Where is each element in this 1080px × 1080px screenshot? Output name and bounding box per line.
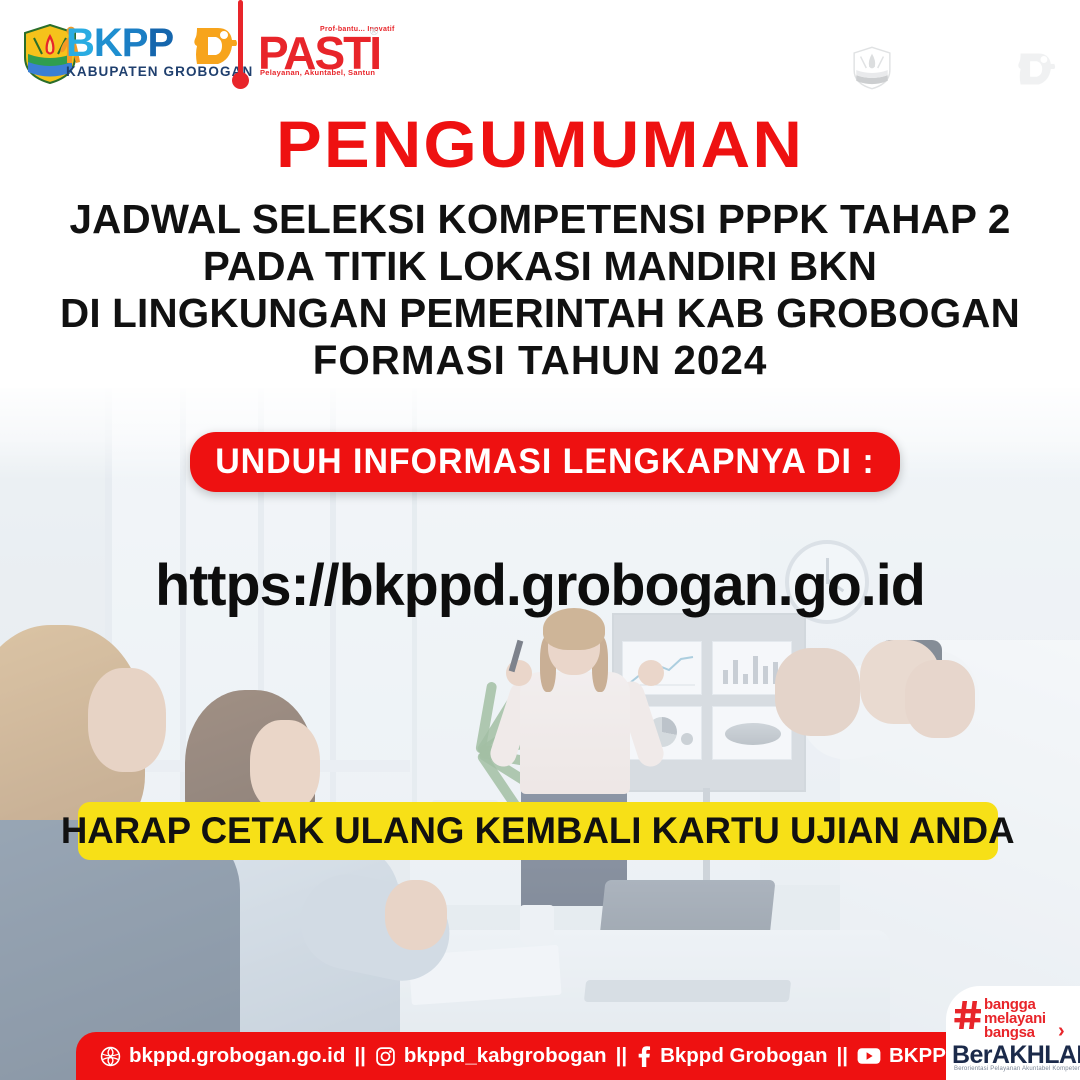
youtube-icon bbox=[857, 1047, 881, 1065]
bkppd-wordmark: BKPP bbox=[66, 22, 173, 64]
bkppd-letter-k: K bbox=[94, 21, 122, 65]
bkppd-letter-b: B bbox=[66, 21, 94, 65]
facebook-icon bbox=[636, 1046, 652, 1067]
website-url[interactable]: https://bkppd.grobogan.go.id bbox=[5, 552, 1074, 619]
bkppd-letter-p1: P bbox=[122, 21, 148, 65]
footer-item-website[interactable]: bkppd.grobogan.go.id bbox=[100, 1044, 345, 1068]
download-info-banner: UNDUH INFORMASI LENGKAPNYA DI : bbox=[190, 432, 900, 492]
bkppd-letter-p2: P bbox=[147, 21, 173, 65]
pasti-tagline-top: Prof-bantu... Inovatif bbox=[320, 26, 395, 33]
header-divider-dot bbox=[232, 72, 249, 89]
berakhlak-logo: bangga melayani bangsa › BerAKHLAK Beror… bbox=[946, 986, 1080, 1080]
puzzle-d-watermark-icon bbox=[1018, 50, 1056, 88]
poster: BKPP KABUPATEN GROBOGAN PASTI Prof-bantu… bbox=[0, 0, 1080, 1080]
footer-instagram-label: bkppd_kabgrobogan bbox=[404, 1044, 607, 1068]
footer-separator-3: || bbox=[827, 1044, 856, 1068]
bkppd-logo: BKPP KABUPATEN GROBOGAN bbox=[22, 22, 237, 84]
registered-mark-icon: ® bbox=[370, 26, 378, 38]
subtitle-line-3: DI LINGKUNGAN PEMERINTAH KAB GROBOGAN bbox=[8, 290, 1072, 337]
subtitle-line-1: JADWAL SELEKSI KOMPETENSI PPPK TAHAP 2 bbox=[8, 196, 1072, 243]
footer-contacts: bkppd.grobogan.go.id || bkppd_kabgroboga… bbox=[76, 1044, 1080, 1068]
header: BKPP KABUPATEN GROBOGAN PASTI Prof-bantu… bbox=[0, 0, 1080, 110]
subtitle-line-4: FORMASI TAHUN 2024 bbox=[8, 337, 1072, 384]
berakhlak-arrow-icon: › bbox=[1058, 1020, 1065, 1043]
pasti-tagline-bottom: Pelayanan, Akuntabel, Santun bbox=[260, 68, 375, 77]
download-info-label: UNDUH INFORMASI LENGKAPNYA DI : bbox=[215, 442, 874, 482]
reprint-notice-banner: HARAP CETAK ULANG KEMBALI KARTU UJIAN AN… bbox=[78, 802, 998, 860]
footer-bar: bkppd.grobogan.go.id || bkppd_kabgroboga… bbox=[76, 1032, 1080, 1080]
instagram-icon bbox=[375, 1046, 396, 1067]
berakhlak-tagline: Berorientasi Pelayanan Akuntabel Kompete… bbox=[954, 1066, 1080, 1072]
puzzle-d-icon bbox=[194, 26, 238, 66]
footer-item-facebook[interactable]: Bkppd Grobogan bbox=[636, 1044, 827, 1068]
footer-website-label: bkppd.grobogan.go.id bbox=[129, 1044, 345, 1068]
footer-item-instagram[interactable]: bkppd_kabgrobogan bbox=[375, 1044, 607, 1068]
globe-icon bbox=[100, 1046, 121, 1067]
footer-facebook-label: Bkppd Grobogan bbox=[660, 1044, 827, 1068]
reprint-notice-label: HARAP CETAK ULANG KEMBALI KARTU UJIAN AN… bbox=[61, 810, 1015, 852]
page-title: PENGUMUMAN bbox=[0, 108, 1080, 180]
header-divider bbox=[238, 0, 243, 78]
pasti-logo: PASTI Prof-bantu... Inovatif Pelayanan, … bbox=[258, 24, 390, 82]
berakhlak-line-3: bangsa bbox=[984, 1025, 1035, 1040]
footer-separator-1: || bbox=[345, 1044, 374, 1068]
title-block: PENGUMUMAN JADWAL SELEKSI KOMPETENSI PPP… bbox=[0, 108, 1080, 384]
footer-separator-2: || bbox=[607, 1044, 636, 1068]
subtitle-line-2: PADA TITIK LOKASI MANDIRI BKN bbox=[8, 243, 1072, 290]
hashtag-icon bbox=[954, 1000, 982, 1030]
grobogan-shield-watermark-icon bbox=[852, 45, 892, 91]
bkppd-subtitle: KABUPATEN GROBOGAN bbox=[66, 64, 253, 79]
